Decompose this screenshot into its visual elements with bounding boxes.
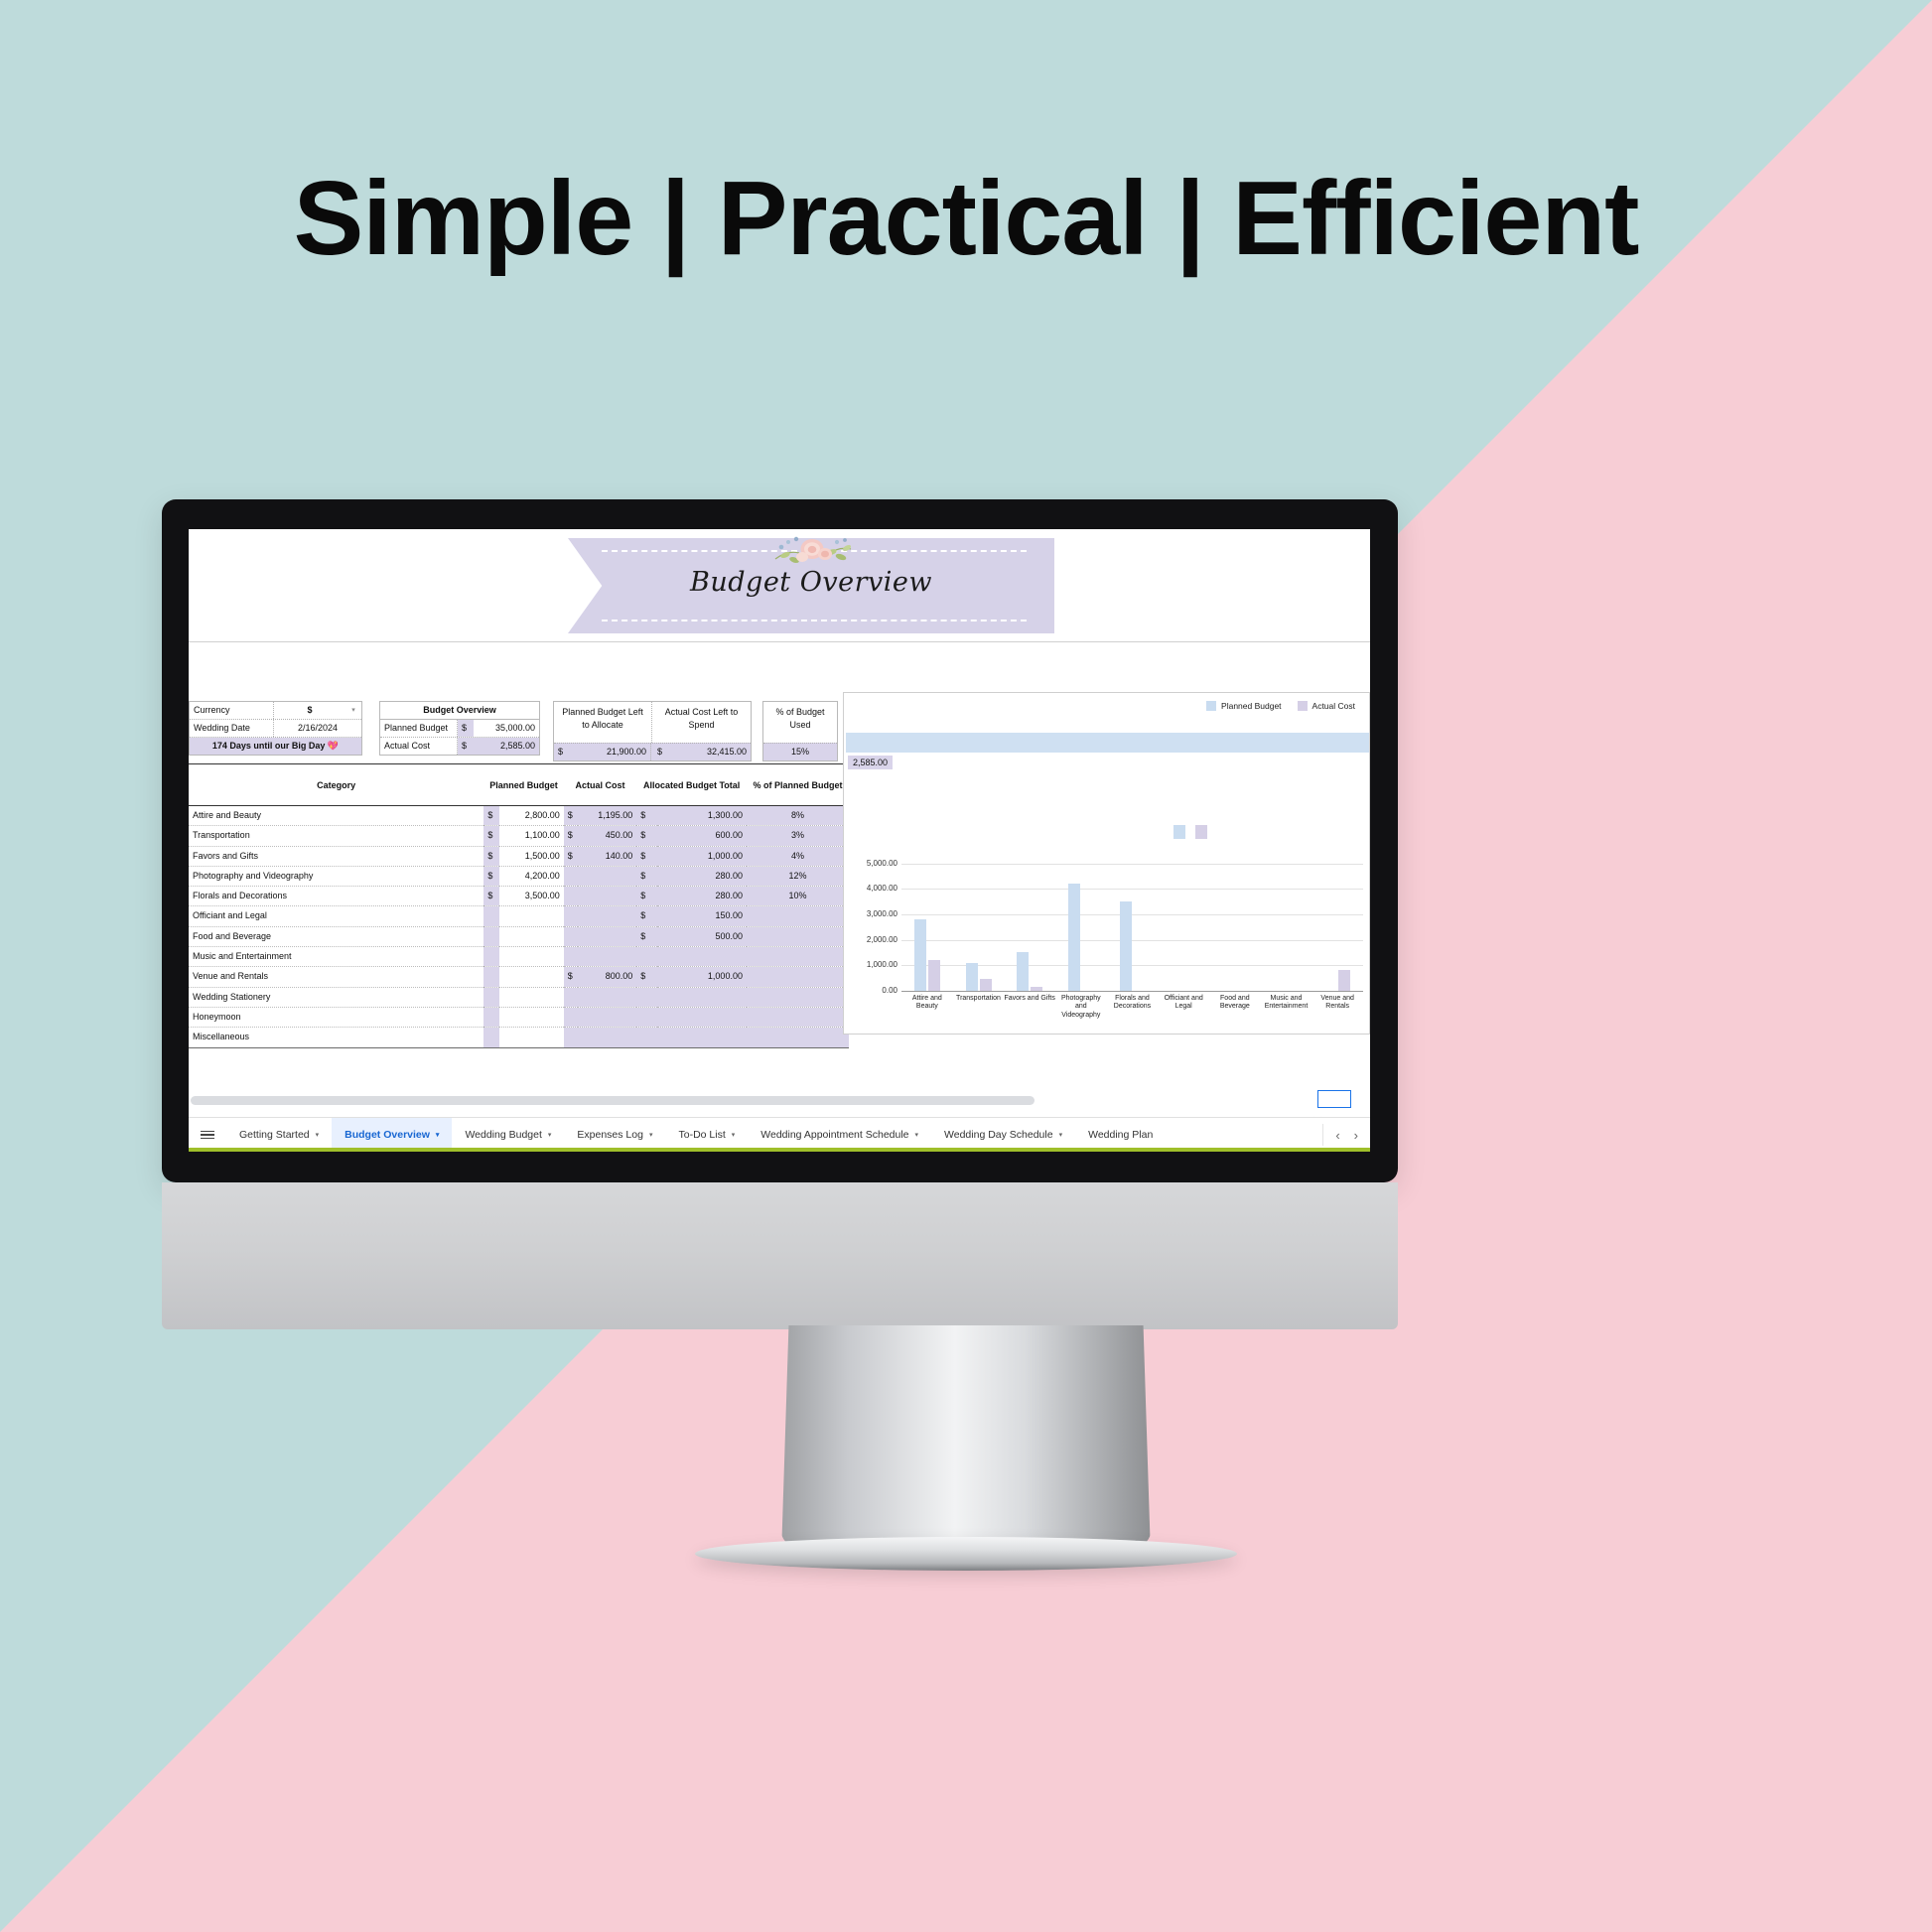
cell-planned-value: 1,100.00: [499, 826, 564, 846]
tab-getting-started[interactable]: Getting Started▾: [226, 1118, 332, 1153]
cell-planned-symbol: $: [483, 846, 499, 866]
tab-label: To-Do List: [678, 1129, 725, 1141]
cell-pct-value: [747, 987, 849, 1007]
cell-pct-value: 4%: [747, 846, 849, 866]
monitor-stand-base: [695, 1537, 1237, 1571]
cell-actual-symbol: [564, 987, 579, 1007]
cell-planned-symbol: [483, 1007, 499, 1027]
currency-label: Currency: [190, 702, 274, 719]
table-row[interactable]: Attire and Beauty$2,800.00$1,195.00$1,30…: [189, 806, 849, 826]
cell-planned-value: [499, 1028, 564, 1047]
tab-budget-overview[interactable]: Budget Overview▾: [332, 1118, 452, 1153]
table-row[interactable]: Honeymoon: [189, 1007, 849, 1027]
legend-swatch-actual: [1298, 701, 1308, 711]
overview-row-label: Actual Cost: [380, 738, 458, 755]
legend-item-planned: Planned Budget: [1206, 701, 1282, 711]
chart-x-label: Favors and Gifts: [1004, 995, 1055, 1003]
cell-alloc-symbol: [636, 1028, 657, 1047]
chart-x-label: Attire and Beauty: [901, 995, 953, 1012]
chart-y-tick: 1,000.00: [844, 960, 897, 969]
cell-category: Music and Entertainment: [189, 947, 483, 967]
cell-alloc-symbol: $: [636, 806, 657, 826]
overview-row-value: 35,000.00: [474, 720, 539, 737]
cell-planned-symbol: $: [483, 806, 499, 826]
cell-actual-symbol: [564, 926, 579, 946]
th-category: Category: [189, 764, 483, 806]
chart-bar-actual: [1338, 970, 1350, 991]
cell-category: Transportation: [189, 826, 483, 846]
tab-to-do-list[interactable]: To-Do List▾: [665, 1118, 748, 1153]
banner-title: Budget Overview: [568, 567, 1054, 598]
chart-bar-planned: [1017, 952, 1029, 991]
th-allocated-total: Allocated Budget Total: [636, 764, 747, 806]
chevron-down-icon[interactable]: ▾: [732, 1131, 736, 1139]
page-headline: Simple | Practical | Efficient: [0, 159, 1932, 279]
countdown-banner: 174 Days until our Big Day 💖: [190, 738, 361, 755]
cell-pct-value: 12%: [747, 866, 849, 886]
cell-actual-symbol: [564, 1007, 579, 1027]
monitor-stand-neck: [781, 1325, 1151, 1556]
chart-bar-actual: [1031, 987, 1042, 991]
cell-planned-value: [499, 967, 564, 987]
pct-used-value: 15%: [763, 744, 837, 760]
cell-category: Venue and Rentals: [189, 967, 483, 987]
remaining-right-header: Actual Cost Left to Spend: [652, 702, 751, 743]
table-row[interactable]: Officiant and Legal$150.00: [189, 906, 849, 926]
chart-y-tick: 0.00: [844, 986, 897, 995]
cell-planned-symbol: [483, 1028, 499, 1047]
cell-category: Favors and Gifts: [189, 846, 483, 866]
chart-x-label: Music and Entertainment: [1261, 995, 1312, 1012]
chart-bar-planned: [914, 919, 926, 991]
cell-actual-value: 450.00: [578, 826, 636, 846]
table-row[interactable]: Venue and Rentals$800.00$1,000.00: [189, 967, 849, 987]
cell-planned-value: [499, 987, 564, 1007]
chart-bar-planned: [966, 963, 978, 991]
cell-actual-value: [578, 1007, 636, 1027]
cell-actual-value: [578, 947, 636, 967]
cell-alloc-value: 280.00: [657, 887, 747, 906]
cell-alloc-value: [657, 947, 747, 967]
selection-highlight-band: [846, 733, 1369, 753]
cell-actual-value: [578, 906, 636, 926]
tab-list: Getting Started▾Budget Overview▾Wedding …: [226, 1118, 1322, 1153]
tab-expenses-log[interactable]: Expenses Log▾: [564, 1118, 665, 1153]
chart-x-label: Officiant and Legal: [1158, 995, 1209, 1012]
cell-category: Florals and Decorations: [189, 887, 483, 906]
cell-actual-symbol: $: [564, 967, 579, 987]
all-sheets-icon[interactable]: [189, 1129, 226, 1142]
budget-table: Category Planned Budget Actual Cost Allo…: [189, 763, 849, 1048]
table-row[interactable]: Music and Entertainment: [189, 947, 849, 967]
table-row[interactable]: Transportation$1,100.00$450.00$600.003%: [189, 826, 849, 846]
cell-actual-value: 140.00: [578, 846, 636, 866]
chart-gridline: [901, 914, 1363, 915]
tab-label: Wedding Day Schedule: [944, 1129, 1053, 1141]
tab-wedding-plan[interactable]: Wedding Plan: [1075, 1118, 1166, 1153]
cell-pct-value: 3%: [747, 826, 849, 846]
cell-alloc-value: [657, 1007, 747, 1027]
legend-label-actual: Actual Cost: [1312, 701, 1355, 711]
cell-planned-symbol: [483, 906, 499, 926]
overview-row-symbol: $: [458, 720, 474, 737]
chevron-down-icon[interactable]: ▾: [1059, 1131, 1063, 1139]
cell-alloc-symbol: $: [636, 846, 657, 866]
cell-category: Officiant and Legal: [189, 906, 483, 926]
chevron-down-icon[interactable]: ▾: [436, 1131, 440, 1139]
overview-row-value: 2,585.00: [474, 738, 539, 755]
table-row[interactable]: Florals and Decorations$3,500.00$280.001…: [189, 887, 849, 906]
th-pct-planned: % of Planned Budget: [747, 764, 849, 806]
cell-category: Attire and Beauty: [189, 806, 483, 826]
cell-alloc-symbol: $: [636, 866, 657, 886]
cell-planned-value: [499, 906, 564, 926]
sheet-gap: [189, 642, 1370, 692]
cell-category: Photography and Videography: [189, 866, 483, 886]
cell-alloc-value: 1,000.00: [657, 967, 747, 987]
pct-used-header: % of Budget Used: [763, 702, 837, 743]
table-row[interactable]: Food and Beverage$500.00: [189, 926, 849, 946]
th-actual-cost: Actual Cost: [564, 764, 637, 806]
tab-label: Expenses Log: [577, 1129, 643, 1141]
cell-alloc-symbol: [636, 947, 657, 967]
spreadsheet: Budget Overview Currency $ ▾ Wedding Dat…: [189, 529, 1370, 1152]
cell-actual-symbol: [564, 866, 579, 886]
cell-actual-value: 1,195.00: [578, 806, 636, 826]
chart-gridline: [901, 940, 1363, 941]
horizontal-scrollbar[interactable]: [191, 1096, 1035, 1105]
chart-axis-baseline: [901, 991, 1363, 992]
cell-actual-symbol: $: [564, 826, 579, 846]
pct-used-box: % of Budget Used 15%: [762, 701, 838, 761]
table-row[interactable]: Favors and Gifts$1,500.00$140.00$1,000.0…: [189, 846, 849, 866]
cell-alloc-symbol: [636, 1007, 657, 1027]
cell-alloc-value: 280.00: [657, 866, 747, 886]
chart-y-tick: 2,000.00: [844, 935, 897, 944]
chart-tooltip-value: 2,585.00: [848, 756, 893, 769]
cell-category: Wedding Stationery: [189, 987, 483, 1007]
tab-label: Wedding Appointment Schedule: [760, 1129, 908, 1141]
chevron-down-icon[interactable]: ▾: [316, 1131, 320, 1139]
chart-y-tick: 5,000.00: [844, 859, 897, 868]
tab-label: Budget Overview: [345, 1129, 430, 1141]
tab-label: Wedding Budget: [465, 1129, 541, 1141]
chart-legend: Planned Budget Actual Cost: [1206, 701, 1355, 711]
tab-wedding-appointment-schedule[interactable]: Wedding Appointment Schedule▾: [748, 1118, 931, 1153]
cell-actual-symbol: [564, 906, 579, 926]
cell-alloc-symbol: $: [636, 967, 657, 987]
cell-pct-value: [747, 967, 849, 987]
cell-actual-value: [578, 887, 636, 906]
table-row[interactable]: Photography and Videography$4,200.00$280…: [189, 866, 849, 886]
chart-bar-actual: [980, 979, 992, 991]
remaining-left-header: Planned Budget Left to Allocate: [554, 702, 652, 743]
monitor-screen: Budget Overview Currency $ ▾ Wedding Dat…: [189, 529, 1370, 1152]
remaining-right-value: 32,415.00: [665, 744, 751, 760]
budget-chart[interactable]: Planned Budget Actual Cost 2,585.00 0.00…: [843, 692, 1370, 1035]
legend-swatch-planned: [1206, 701, 1216, 711]
th-planned-budget: Planned Budget: [483, 764, 563, 806]
cell-pct-value: 8%: [747, 806, 849, 826]
chart-bar-planned: [1120, 901, 1132, 991]
cell-planned-symbol: [483, 987, 499, 1007]
tab-wedding-day-schedule[interactable]: Wedding Day Schedule▾: [931, 1118, 1075, 1153]
table-row[interactable]: Miscellaneous: [189, 1028, 849, 1047]
monitor-frame: Budget Overview Currency $ ▾ Wedding Dat…: [162, 499, 1398, 1182]
chart-plot-area: 0.001,000.002,000.003,000.004,000.005,00…: [844, 835, 1370, 1034]
cell-alloc-symbol: $: [636, 887, 657, 906]
chart-x-label: Transportation: [953, 995, 1005, 1003]
chevron-down-icon[interactable]: ▾: [345, 702, 361, 719]
overview-row-label: Planned Budget: [380, 720, 458, 737]
tab-label: Getting Started: [239, 1129, 310, 1141]
cell-alloc-symbol: $: [636, 926, 657, 946]
overview-row-symbol: $: [458, 738, 474, 755]
cell-alloc-value: 500.00: [657, 926, 747, 946]
cell-planned-value: [499, 926, 564, 946]
cell-actual-symbol: [564, 1028, 579, 1047]
cell-pct-value: [747, 1007, 849, 1027]
cell-actual-value: 800.00: [578, 967, 636, 987]
chart-bar-planned: [1068, 884, 1080, 991]
cell-pct-value: [747, 926, 849, 946]
cell-planned-symbol: [483, 967, 499, 987]
cell-alloc-symbol: $: [636, 906, 657, 926]
cell-category: Food and Beverage: [189, 926, 483, 946]
selected-cell[interactable]: [1317, 1090, 1351, 1108]
cell-planned-value: [499, 1007, 564, 1027]
cell-actual-symbol: [564, 887, 579, 906]
chevron-down-icon[interactable]: ▾: [915, 1131, 919, 1139]
budget-overview-title: Budget Overview: [380, 702, 539, 719]
wedding-date-value[interactable]: 2/16/2024: [274, 720, 361, 737]
monitor-chin: [162, 1182, 1398, 1329]
tab-wedding-budget[interactable]: Wedding Budget▾: [452, 1118, 564, 1153]
tab-prev-icon[interactable]: ‹: [1335, 1128, 1339, 1143]
remaining-left-symbol: $: [554, 744, 568, 760]
settings-box: Currency $ ▾ Wedding Date 2/16/2024 174 …: [189, 701, 362, 756]
legend-label-planned: Planned Budget: [1221, 701, 1282, 711]
cell-planned-symbol: [483, 947, 499, 967]
cell-planned-value: [499, 947, 564, 967]
cell-planned-value: 2,800.00: [499, 806, 564, 826]
cell-planned-symbol: $: [483, 866, 499, 886]
cell-alloc-value: 1,000.00: [657, 846, 747, 866]
chevron-down-icon[interactable]: ▾: [548, 1131, 552, 1139]
chart-x-label: Venue and Rentals: [1311, 995, 1363, 1012]
table-row[interactable]: Wedding Stationery: [189, 987, 849, 1007]
chart-gridline: [901, 864, 1363, 865]
cell-pct-value: [747, 906, 849, 926]
chart-y-tick: 4,000.00: [844, 884, 897, 893]
wedding-date-label: Wedding Date: [190, 720, 274, 737]
remaining-right-symbol: $: [651, 744, 665, 760]
table-body: Attire and Beauty$2,800.00$1,195.00$1,30…: [189, 806, 849, 1048]
chart-x-label: Florals and Decorations: [1107, 995, 1159, 1012]
cell-category: Honeymoon: [189, 1007, 483, 1027]
legend-item-actual: Actual Cost: [1298, 701, 1355, 711]
cell-planned-value: 4,200.00: [499, 866, 564, 886]
chart-gridline: [901, 889, 1363, 890]
tab-label: Wedding Plan: [1088, 1129, 1153, 1141]
table-header-row: Category Planned Budget Actual Cost Allo…: [189, 764, 849, 806]
cell-alloc-value: 600.00: [657, 826, 747, 846]
cell-alloc-symbol: [636, 987, 657, 1007]
cell-planned-symbol: $: [483, 887, 499, 906]
sheet-banner: Budget Overview: [189, 529, 1370, 642]
chart-x-label: Photography and Videography: [1055, 995, 1107, 1020]
cell-actual-symbol: $: [564, 846, 579, 866]
chevron-down-icon[interactable]: ▾: [649, 1131, 653, 1139]
currency-value[interactable]: $: [274, 702, 345, 719]
cell-actual-symbol: $: [564, 806, 579, 826]
cell-actual-symbol: [564, 947, 579, 967]
tab-nav: ‹ ›: [1322, 1124, 1370, 1146]
cell-alloc-value: 150.00: [657, 906, 747, 926]
cell-actual-value: [578, 926, 636, 946]
tab-next-icon[interactable]: ›: [1354, 1128, 1358, 1143]
cell-pct-value: [747, 947, 849, 967]
cell-planned-value: 3,500.00: [499, 887, 564, 906]
budget-overview-box: Budget Overview Planned Budget $ 35,000.…: [379, 701, 540, 756]
cell-actual-value: [578, 1028, 636, 1047]
remaining-left-value: 21,900.00: [568, 744, 651, 760]
cell-actual-value: [578, 987, 636, 1007]
chart-y-tick: 3,000.00: [844, 909, 897, 918]
cell-planned-value: 1,500.00: [499, 846, 564, 866]
chart-x-label: Food and Beverage: [1209, 995, 1261, 1012]
sheet-tab-bar: Getting Started▾Budget Overview▾Wedding …: [189, 1117, 1370, 1152]
cell-planned-symbol: $: [483, 826, 499, 846]
cell-alloc-symbol: $: [636, 826, 657, 846]
cell-alloc-value: [657, 1028, 747, 1047]
cell-alloc-value: 1,300.00: [657, 806, 747, 826]
remaining-box: Planned Budget Left to Allocate Actual C…: [553, 701, 752, 761]
chart-bar-actual: [928, 960, 940, 991]
cell-pct-value: [747, 1028, 849, 1047]
tabbar-accent-line: [189, 1148, 1370, 1152]
cell-category: Miscellaneous: [189, 1028, 483, 1047]
cell-alloc-value: [657, 987, 747, 1007]
cell-planned-symbol: [483, 926, 499, 946]
cell-pct-value: 10%: [747, 887, 849, 906]
cell-actual-value: [578, 866, 636, 886]
